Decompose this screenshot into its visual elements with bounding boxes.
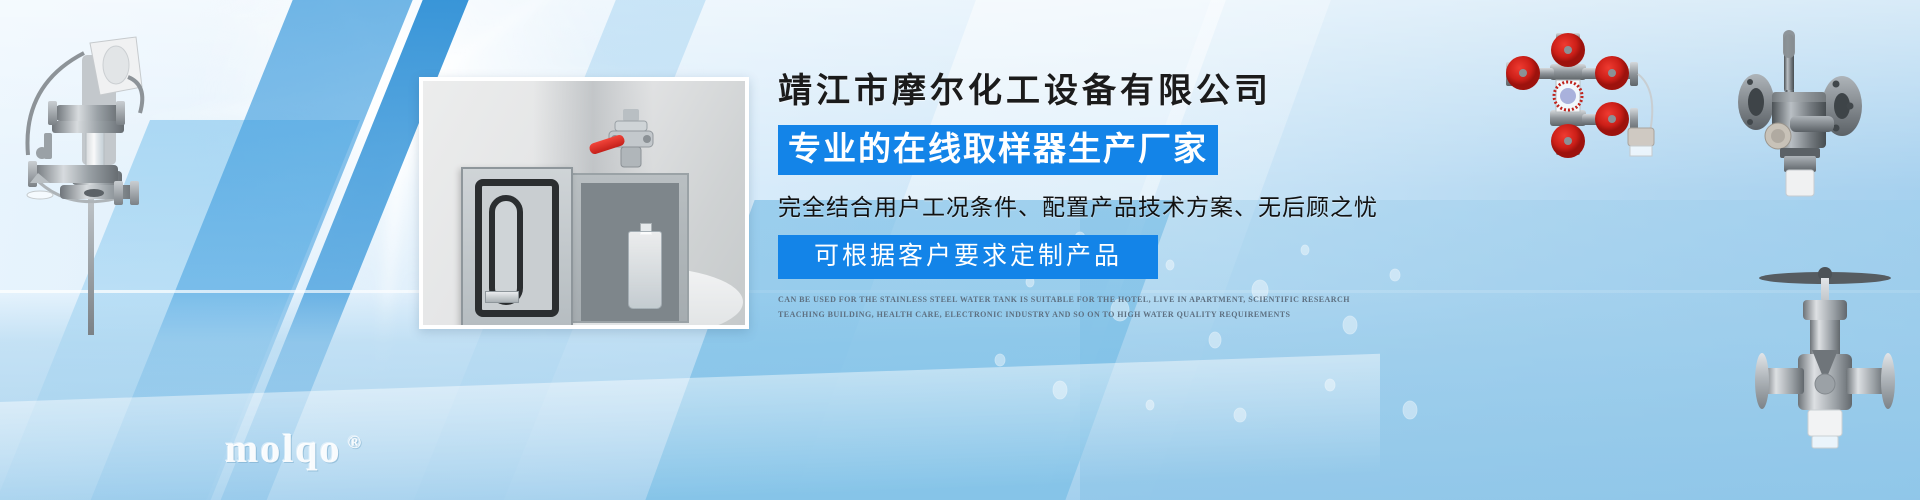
cta-badge[interactable]: 可根据客户要求定制产品 — [778, 235, 1158, 279]
door-window-slot — [489, 195, 523, 305]
banner-text-block: 靖江市摩尔化工设备有限公司 专业的在线取样器生产厂家 完全结合用户工况条件、配置… — [778, 72, 1398, 322]
product-photo[interactable] — [419, 77, 749, 329]
company-name: 靖江市摩尔化工设备有限公司 — [778, 72, 1398, 113]
cabinet-door — [461, 167, 573, 327]
lever-handle-sampling-valve-icon — [1690, 20, 1905, 205]
sample-bottle — [628, 231, 662, 309]
promo-banner: 靖江市摩尔化工设备有限公司 专业的在线取样器生产厂家 完全结合用户工况条件、配置… — [0, 0, 1920, 500]
english-caption: CAN BE USED FOR THE STAINLESS STEEL WATE… — [778, 293, 1378, 323]
sub-headline: 完全结合用户工况条件、配置产品技术方案、无后顾之忧 — [778, 188, 1398, 222]
watermark-logo: molqo® — [225, 425, 363, 472]
watermark-text: molqo — [225, 426, 342, 471]
four-valve-red-handwheel-sampler-icon — [1490, 28, 1690, 163]
door-latch — [485, 291, 519, 303]
flanged-needle-sampling-valve-icon — [1740, 250, 1910, 460]
pipeline-sampler-on-stand-icon — [8, 25, 178, 335]
headline-badge: 专业的在线取样器生产厂家 — [778, 125, 1218, 175]
registered-mark-icon: ® — [348, 432, 363, 452]
